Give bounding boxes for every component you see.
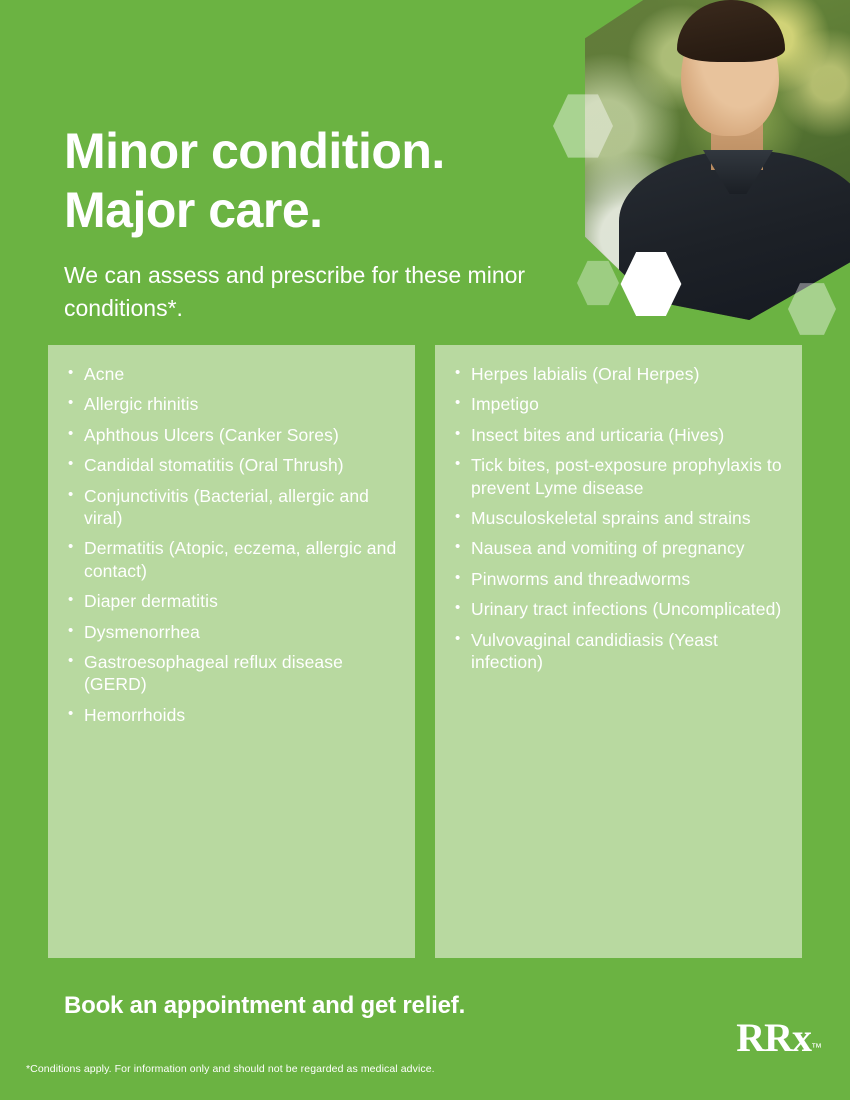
conditions-list-right: Herpes labialis (Oral Herpes) Impetigo I… — [451, 363, 786, 681]
list-item: Tick bites, post-exposure prophylaxis to… — [451, 454, 786, 507]
conditions-card-group: Acne Allergic rhinitis Aphthous Ulcers (… — [48, 345, 802, 958]
brand-logo-text: RRx — [736, 1015, 811, 1060]
disclaimer-text: *Conditions apply. For information only … — [26, 1063, 435, 1075]
list-item: Candidal stomatitis (Oral Thrush) — [64, 454, 399, 484]
list-item: Impetigo — [451, 393, 786, 423]
trademark-symbol: ™ — [811, 1042, 822, 1054]
headline-line-1: Minor condition. — [64, 122, 544, 181]
list-item: Vulvovaginal candidiasis (Yeast infectio… — [451, 629, 786, 682]
list-item: Acne — [64, 363, 399, 393]
list-item: Dermatitis (Atopic, eczema, allergic and… — [64, 537, 399, 590]
conditions-card-left: Acne Allergic rhinitis Aphthous Ulcers (… — [48, 345, 415, 958]
list-item: Nausea and vomiting of pregnancy — [451, 537, 786, 567]
list-item: Conjunctivitis (Bacterial, allergic and … — [64, 485, 399, 538]
list-item: Dysmenorrhea — [64, 621, 399, 651]
list-item: Allergic rhinitis — [64, 393, 399, 423]
list-item: Diaper dermatitis — [64, 590, 399, 620]
hexagon-decoration-lower-left — [577, 260, 619, 306]
headline-line-2: Major care. — [64, 181, 544, 240]
list-item: Musculoskeletal sprains and strains — [451, 507, 786, 537]
subheadline: We can assess and prescribe for these mi… — [64, 259, 554, 324]
list-item: Pinworms and threadworms — [451, 568, 786, 598]
page-title: Minor condition. Major care. — [64, 122, 544, 240]
list-item: Urinary tract infections (Uncomplicated) — [451, 598, 786, 628]
list-item: Herpes labialis (Oral Herpes) — [451, 363, 786, 393]
list-item: Aphthous Ulcers (Canker Sores) — [64, 424, 399, 454]
hero-photo — [585, 0, 850, 320]
brand-logo: RRx™ — [736, 1018, 822, 1058]
conditions-card-right: Herpes labialis (Oral Herpes) Impetigo I… — [435, 345, 802, 958]
list-item: Insect bites and urticaria (Hives) — [451, 424, 786, 454]
list-item: Gastroesophageal reflux disease (GERD) — [64, 651, 399, 704]
list-item: Hemorrhoids — [64, 704, 399, 734]
conditions-list-left: Acne Allergic rhinitis Aphthous Ulcers (… — [64, 363, 399, 734]
call-to-action-text: Book an appointment and get relief. — [64, 992, 465, 1020]
poster-root: Minor condition. Major care. We can asse… — [0, 0, 850, 1100]
